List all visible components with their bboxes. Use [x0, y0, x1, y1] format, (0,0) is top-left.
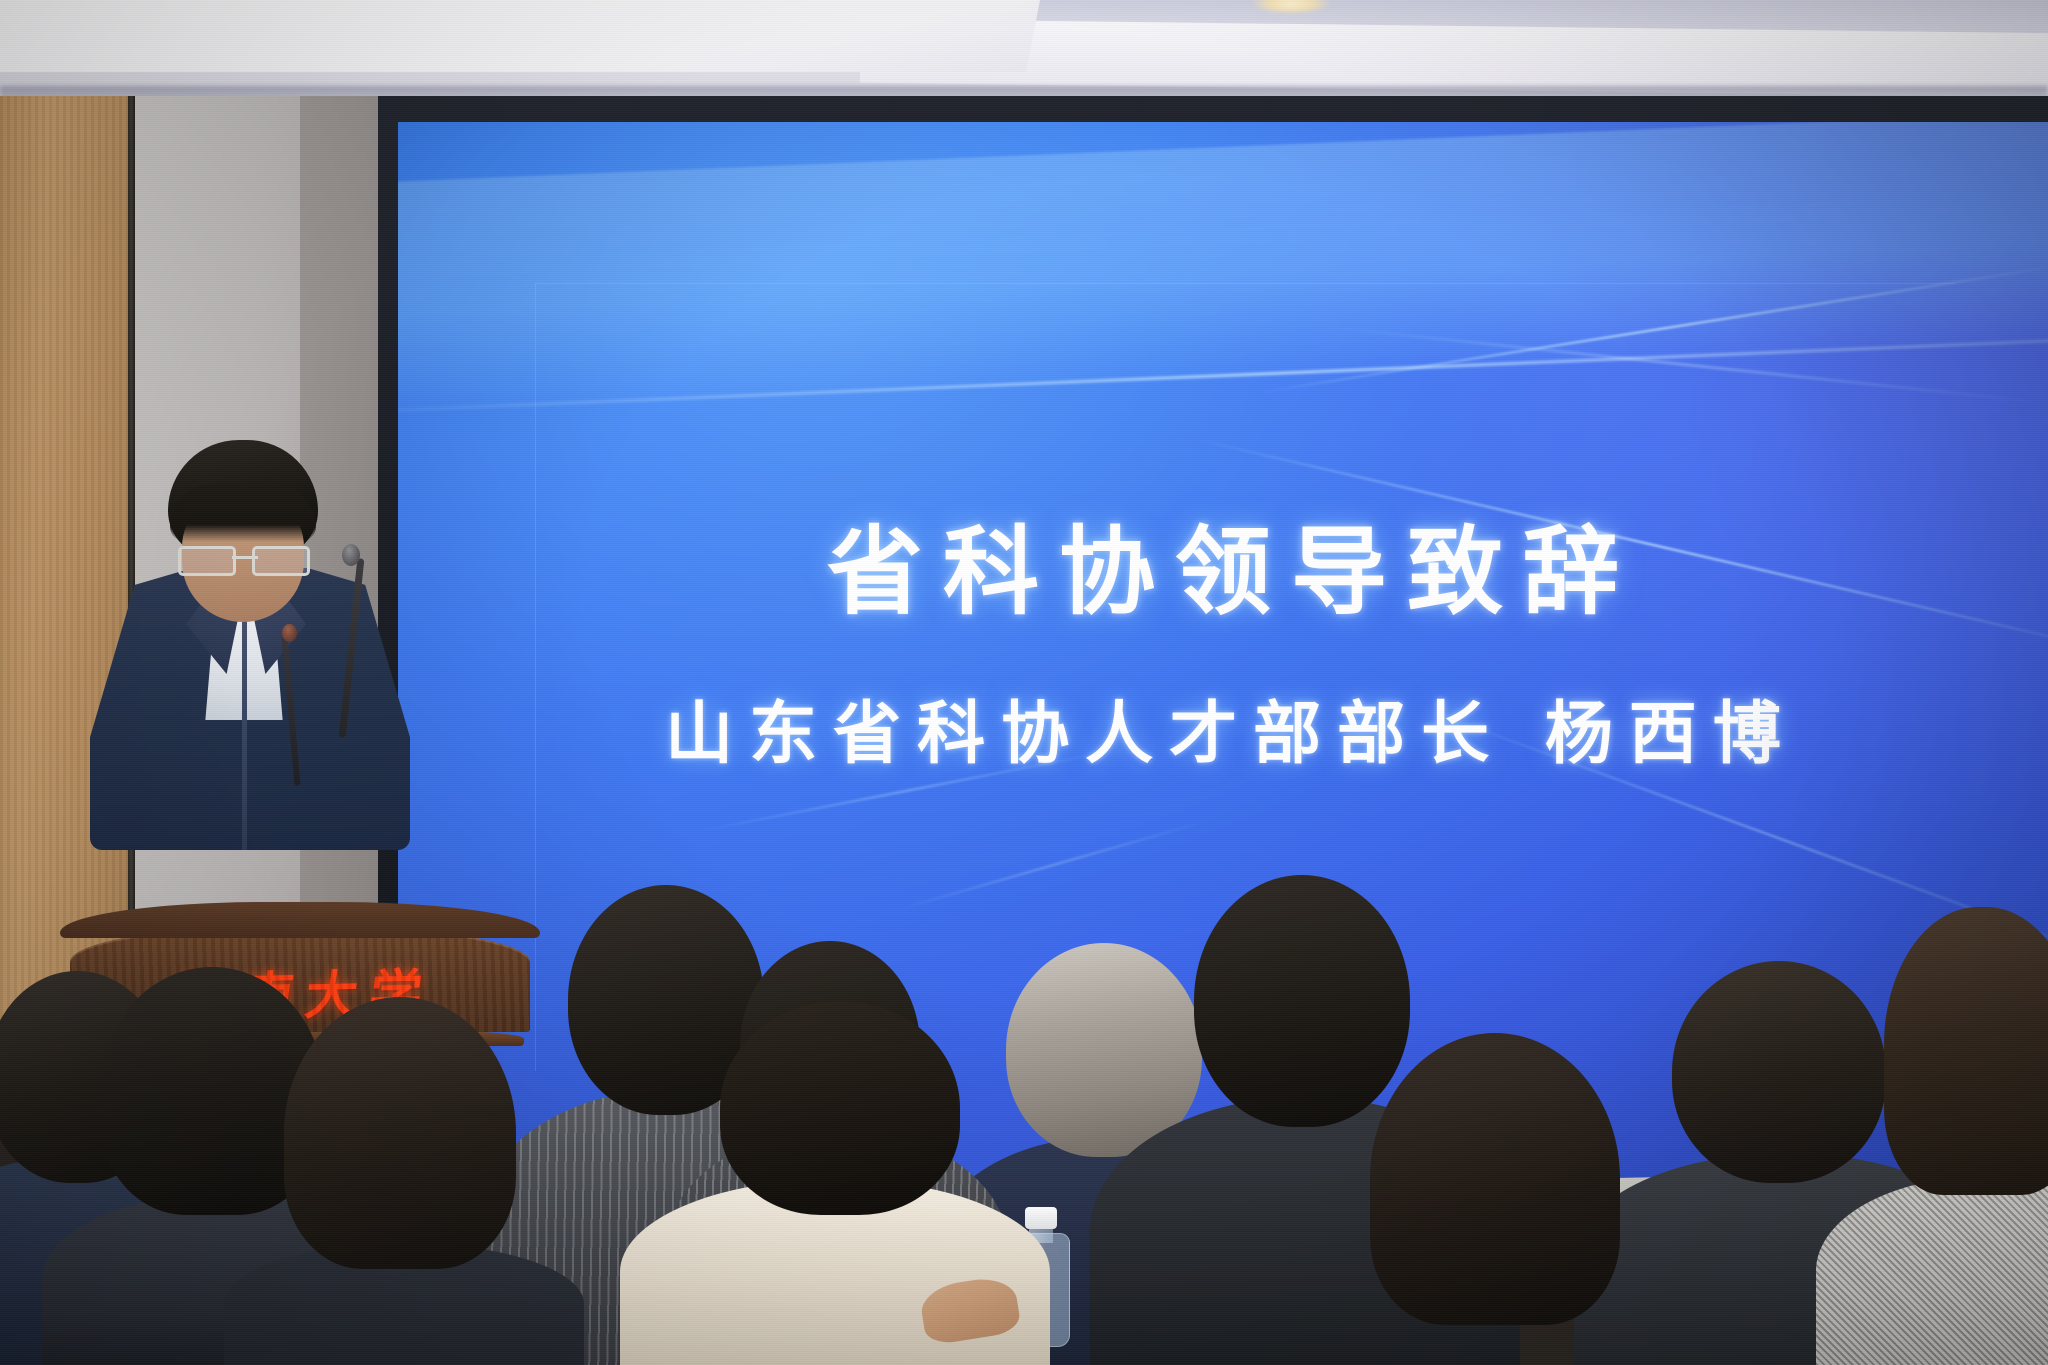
- audience-head: [720, 1001, 960, 1215]
- ceiling-white-panel: [0, 0, 1040, 72]
- audience-head: [1370, 1033, 1620, 1325]
- audience-shoulders: [1816, 1177, 2048, 1365]
- audience-member-long-hair-right: [1310, 1035, 1670, 1365]
- glasses-lens-left: [178, 546, 236, 576]
- audience-member-cream-hoodie: [660, 1005, 1020, 1365]
- microphone-icon: [342, 544, 360, 566]
- glasses-lens-right: [252, 546, 310, 576]
- audience-member-long-hair-left-center: [240, 993, 560, 1365]
- bottle-cap: [1025, 1207, 1057, 1229]
- speaker-at-podium: [90, 440, 410, 840]
- conference-photo-scene: 省科协领导致辞 山东省科协人才部部长 杨西博 济南大学 RS: [0, 0, 2048, 1365]
- podium-top-surface: [60, 902, 540, 938]
- microphone-icon-secondary: [282, 624, 297, 642]
- audience-head: [284, 997, 516, 1269]
- speaker-glasses-icon: [176, 546, 312, 572]
- speaker-jacket-zipper: [242, 610, 247, 850]
- audience-head: [1884, 907, 2048, 1195]
- speaker-hair-fringe: [170, 484, 316, 542]
- audience-member-ponytail-right-edge: [1850, 915, 2048, 1365]
